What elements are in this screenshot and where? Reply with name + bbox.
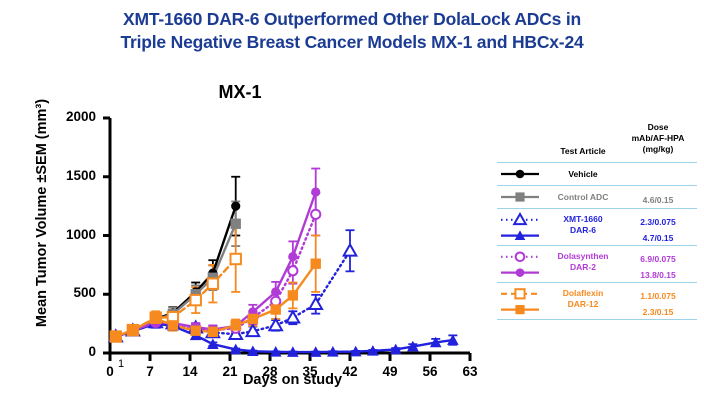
legend-dose: 2.3/0.0754.7/0.15	[621, 214, 695, 246]
legend-row[interactable]: DolaflexinDAR-121.1/0.0752.3/0.15	[497, 282, 697, 320]
legend-test-article-line-1: XMT-1660	[545, 214, 621, 225]
chart-plot-area: Mean Tumor Volume ±SEM (mm³) Days on stu…	[0, 100, 500, 400]
legend-header-dose-line-2: mAb/AF-HPA	[621, 133, 695, 144]
data-point-marker	[168, 320, 178, 330]
y-tick-label: 2000	[52, 109, 96, 124]
data-point-marker	[344, 244, 357, 255]
data-point-marker	[231, 254, 241, 264]
legend-dose: 4.6/0.15	[621, 192, 695, 208]
legend-test-article-line-1: Vehicle	[545, 169, 621, 180]
x-tick-label: 49	[375, 364, 405, 379]
legend-key	[497, 186, 545, 208]
legend-test-article-line-2: DAR-6	[545, 225, 621, 236]
legend-test-article-line-2: DAR-12	[545, 299, 621, 310]
x-tick-label: 0	[95, 364, 125, 379]
legend-test-article: XMT-1660DAR-6	[545, 214, 621, 235]
legend-key	[497, 209, 545, 245]
data-point-marker	[514, 214, 526, 224]
data-point-marker	[111, 331, 121, 341]
data-point-marker	[231, 202, 240, 211]
legend-rows: VehicleControl ADC4.6/0.15XMT-1660DAR-62…	[497, 162, 697, 320]
data-point-marker	[208, 278, 218, 288]
data-point-marker	[287, 311, 300, 322]
legend-test-article: DolasynthenDAR-2	[545, 251, 621, 272]
y-tick-label: 0	[52, 344, 96, 359]
legend-dose-line-1: 6.9/0.075	[621, 251, 695, 267]
page-title-line-1: XMT-1660 DAR-6 Outperformed Other DolaLo…	[0, 8, 704, 31]
y-tick-label: 1500	[52, 168, 96, 183]
legend-key-icon	[497, 209, 545, 245]
legend-dose-line-1: 1.1/0.075	[621, 288, 695, 304]
data-point-marker	[231, 219, 241, 229]
legend-dose-line-1: 4.6/0.15	[621, 192, 695, 208]
data-point-marker	[515, 305, 524, 314]
data-point-marker	[191, 325, 201, 335]
x-tick-label: 14	[175, 364, 205, 379]
data-point-marker	[191, 295, 201, 305]
legend-key	[497, 246, 545, 282]
legend-row[interactable]: Vehicle	[497, 162, 697, 185]
legend-dose-line-2: 4.7/0.15	[621, 230, 695, 246]
legend-dose: 1.1/0.0752.3/0.15	[621, 288, 695, 320]
data-point-marker	[516, 253, 525, 262]
legend-header-dose: Dose mAb/AF-HPA (mg/kg)	[621, 122, 695, 155]
page-title: XMT-1660 DAR-6 Outperformed Other DolaLo…	[0, 8, 704, 54]
y-tick-label: 500	[52, 285, 96, 300]
x-tick-label: 42	[335, 364, 365, 379]
data-point-marker	[207, 338, 219, 349]
legend-header-dose-line-1: Dose	[621, 122, 695, 133]
data-point-marker	[271, 287, 280, 296]
legend-header: Test Article Dose mAb/AF-HPA (mg/kg)	[497, 122, 697, 162]
data-point-marker	[516, 170, 525, 179]
x-tick-label: 35	[295, 364, 325, 379]
chart-legend: Test Article Dose mAb/AF-HPA (mg/kg) Veh…	[497, 122, 697, 320]
legend-dose-line-2: 2.3/0.15	[621, 304, 695, 320]
data-point-marker	[311, 187, 320, 196]
legend-key	[497, 163, 545, 185]
data-point-marker	[515, 289, 524, 298]
legend-key-icon	[497, 186, 545, 208]
data-point-marker	[271, 304, 281, 314]
legend-header-dose-line-3: (mg/kg)	[621, 144, 695, 155]
data-point-marker	[515, 192, 524, 201]
legend-dose-line-2: 13.8/0.15	[621, 267, 695, 283]
legend-test-article: DolaflexinDAR-12	[545, 288, 621, 309]
legend-test-article-line-1: Control ADC	[545, 192, 621, 203]
legend-test-article-line-1: Dolasynthen	[545, 251, 621, 262]
y-tick-label: 1000	[52, 227, 96, 242]
legend-dose-line-1: 2.3/0.075	[621, 214, 695, 230]
legend-key-icon	[497, 283, 545, 319]
legend-row[interactable]: DolasynthenDAR-26.9/0.07513.8/0.15	[497, 245, 697, 282]
legend-dose: 6.9/0.07513.8/0.15	[621, 251, 695, 283]
data-point-marker	[151, 313, 161, 323]
data-point-marker	[311, 210, 320, 219]
legend-test-article-line-1: Dolaflexin	[545, 288, 621, 299]
page-title-line-2: Triple Negative Breast Cancer Models MX-…	[0, 31, 704, 54]
data-point-marker	[309, 298, 322, 309]
legend-test-article-line-2: DAR-2	[545, 262, 621, 273]
legend-row[interactable]: XMT-1660DAR-62.3/0.0754.7/0.15	[497, 208, 697, 245]
legend-header-test-article: Test Article	[545, 146, 621, 156]
data-point-marker	[288, 266, 297, 275]
x-tick-label: 63	[455, 364, 485, 379]
data-point-marker	[288, 252, 297, 261]
legend-key-icon	[497, 163, 545, 185]
x-tick-label: 28	[255, 364, 285, 379]
x-tick-label: 7	[135, 364, 165, 379]
data-point-marker	[516, 268, 525, 277]
legend-row[interactable]: Control ADC4.6/0.15	[497, 185, 697, 208]
data-point-marker	[288, 290, 298, 300]
legend-test-article: Vehicle	[545, 169, 621, 180]
data-point-marker	[208, 327, 218, 337]
legend-key	[497, 283, 545, 319]
data-point-marker	[311, 259, 321, 269]
data-point-marker	[248, 314, 258, 324]
x-tick-label: 21	[215, 364, 245, 379]
data-point-marker	[128, 325, 138, 335]
legend-key-icon	[497, 246, 545, 282]
legend-test-article: Control ADC	[545, 192, 621, 203]
x-tick-label: 56	[415, 364, 445, 379]
data-point-marker	[231, 320, 241, 330]
